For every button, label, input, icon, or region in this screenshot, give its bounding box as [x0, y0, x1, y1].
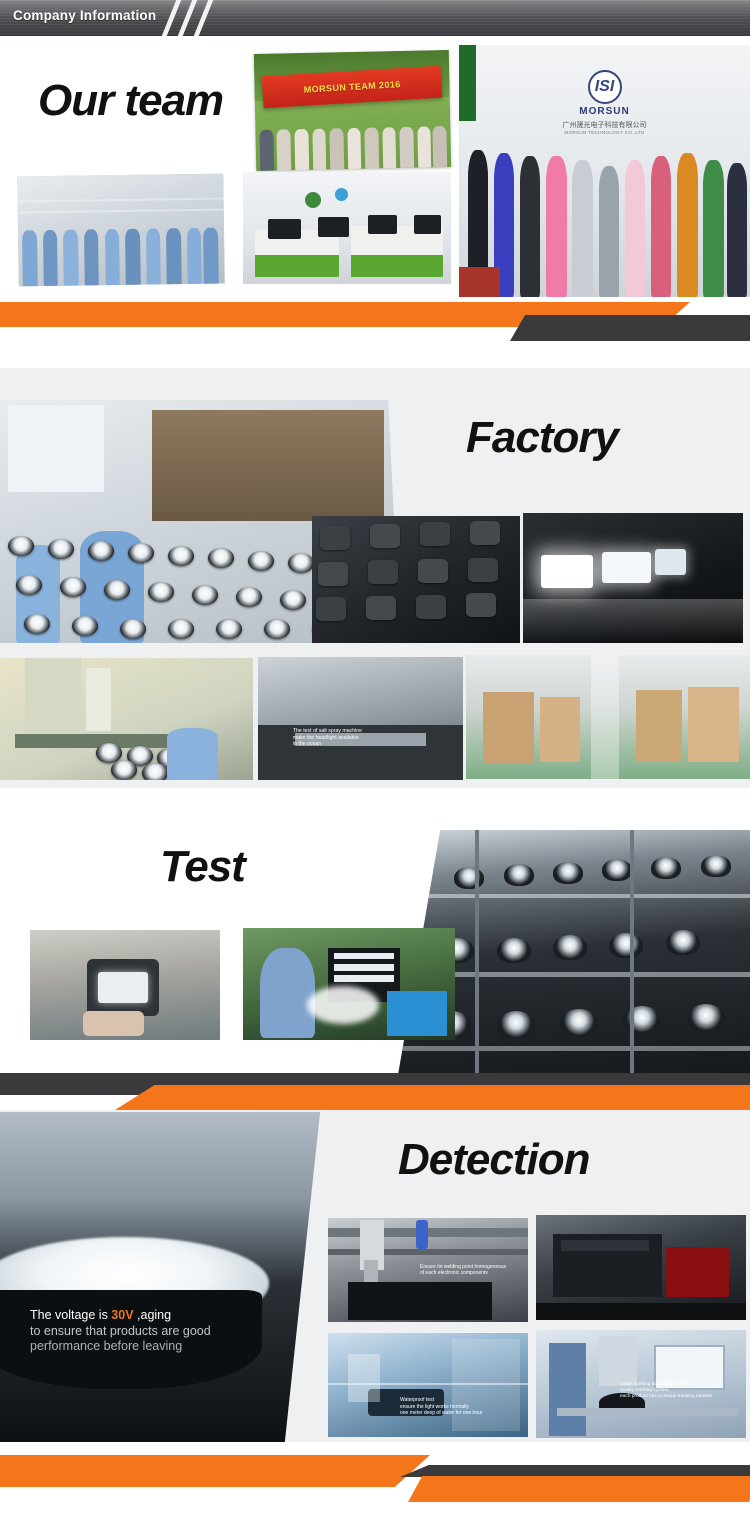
waterproof-caption: Waterproof test ensure the light works n…: [400, 1397, 524, 1416]
laser-marking-station-photo: Laser marking according to ISO quality t…: [536, 1330, 746, 1438]
section-title-test: Test: [160, 842, 245, 892]
diagonal-stripes-icon: [165, 0, 235, 36]
company-name-en: MORSUN TECHNOLOGY CO.,LTD: [563, 130, 647, 135]
voltage-caption-line3: performance before leaving: [30, 1339, 300, 1355]
led-lamp-closeup-photo: The voltage is 30V ,aging to ensure that…: [0, 1112, 320, 1442]
laser-marking-caption: Laser marking according to ISO quality t…: [620, 1382, 746, 1400]
section-title-detection: Detection: [398, 1135, 589, 1185]
salt-spray-caption: The test of salt spray machine make the …: [293, 728, 437, 748]
injection-molding-machine-photo: [0, 658, 253, 780]
office-staff-group-photo: ISI MORSUN 广州晟光电子科技有限公司 MORSUN TECHNOLOG…: [459, 45, 750, 297]
voltage-caption-line2: to ensure that products are good: [30, 1324, 300, 1340]
waterproof-tank-test-photo: Waterproof test ensure the light works n…: [328, 1333, 528, 1437]
salt-spray-test-photo: The test of salt spray machine make the …: [258, 657, 463, 780]
warehouse-cartons-photo: [466, 655, 750, 779]
page-title: Company Information: [13, 8, 156, 23]
voltage-value: 30V: [111, 1308, 133, 1322]
section-title-our-team: Our team: [38, 76, 223, 126]
divider-orange-bottom-right: [408, 1476, 750, 1502]
divider-orange-bottom-left: [0, 1455, 430, 1487]
led-housing-trays-photo: [312, 516, 520, 643]
voltage-caption-line1a: The voltage is: [30, 1308, 111, 1322]
section-header-bar: Company Information: [0, 0, 750, 36]
office-workstations-photo: [243, 172, 451, 284]
voltage-caption-line1b: ,aging: [134, 1308, 172, 1322]
team-outdoor-group-photo: MORSUN TEAM 2016: [254, 50, 451, 171]
section-title-factory: Factory: [466, 413, 618, 463]
voltage-caption: The voltage is 30V ,aging to ensure that…: [30, 1308, 300, 1355]
brand-name: MORSUN: [563, 106, 647, 117]
morsun-logo-icon: ISI: [588, 70, 622, 104]
smt-pick-place-machine-photo: Ensure tin welding point homogeneous of …: [328, 1218, 528, 1322]
smt-caption: Ensure tin welding point homogeneous of …: [420, 1264, 528, 1277]
divider-orange-test: [115, 1085, 750, 1110]
assembly-line-workers-photo: [17, 174, 225, 287]
cmm-inspection-machine-photo: [536, 1215, 746, 1320]
company-name-cn: 广州晟光电子科技有限公司: [563, 120, 647, 130]
divider-dark-team: [510, 315, 750, 341]
wall-logo: ISI MORSUN 广州晟光电子科技有限公司 MORSUN TECHNOLOG…: [563, 70, 647, 135]
waterproof-immersion-test-photo: [30, 930, 220, 1040]
led-light-bars-lit-photo: [523, 513, 743, 643]
pcb-soldering-test-photo: [243, 928, 455, 1040]
company-information-page: Company Information Our team MORSUN TEAM…: [0, 0, 750, 1513]
divider-dark-bottom: [400, 1465, 750, 1477]
